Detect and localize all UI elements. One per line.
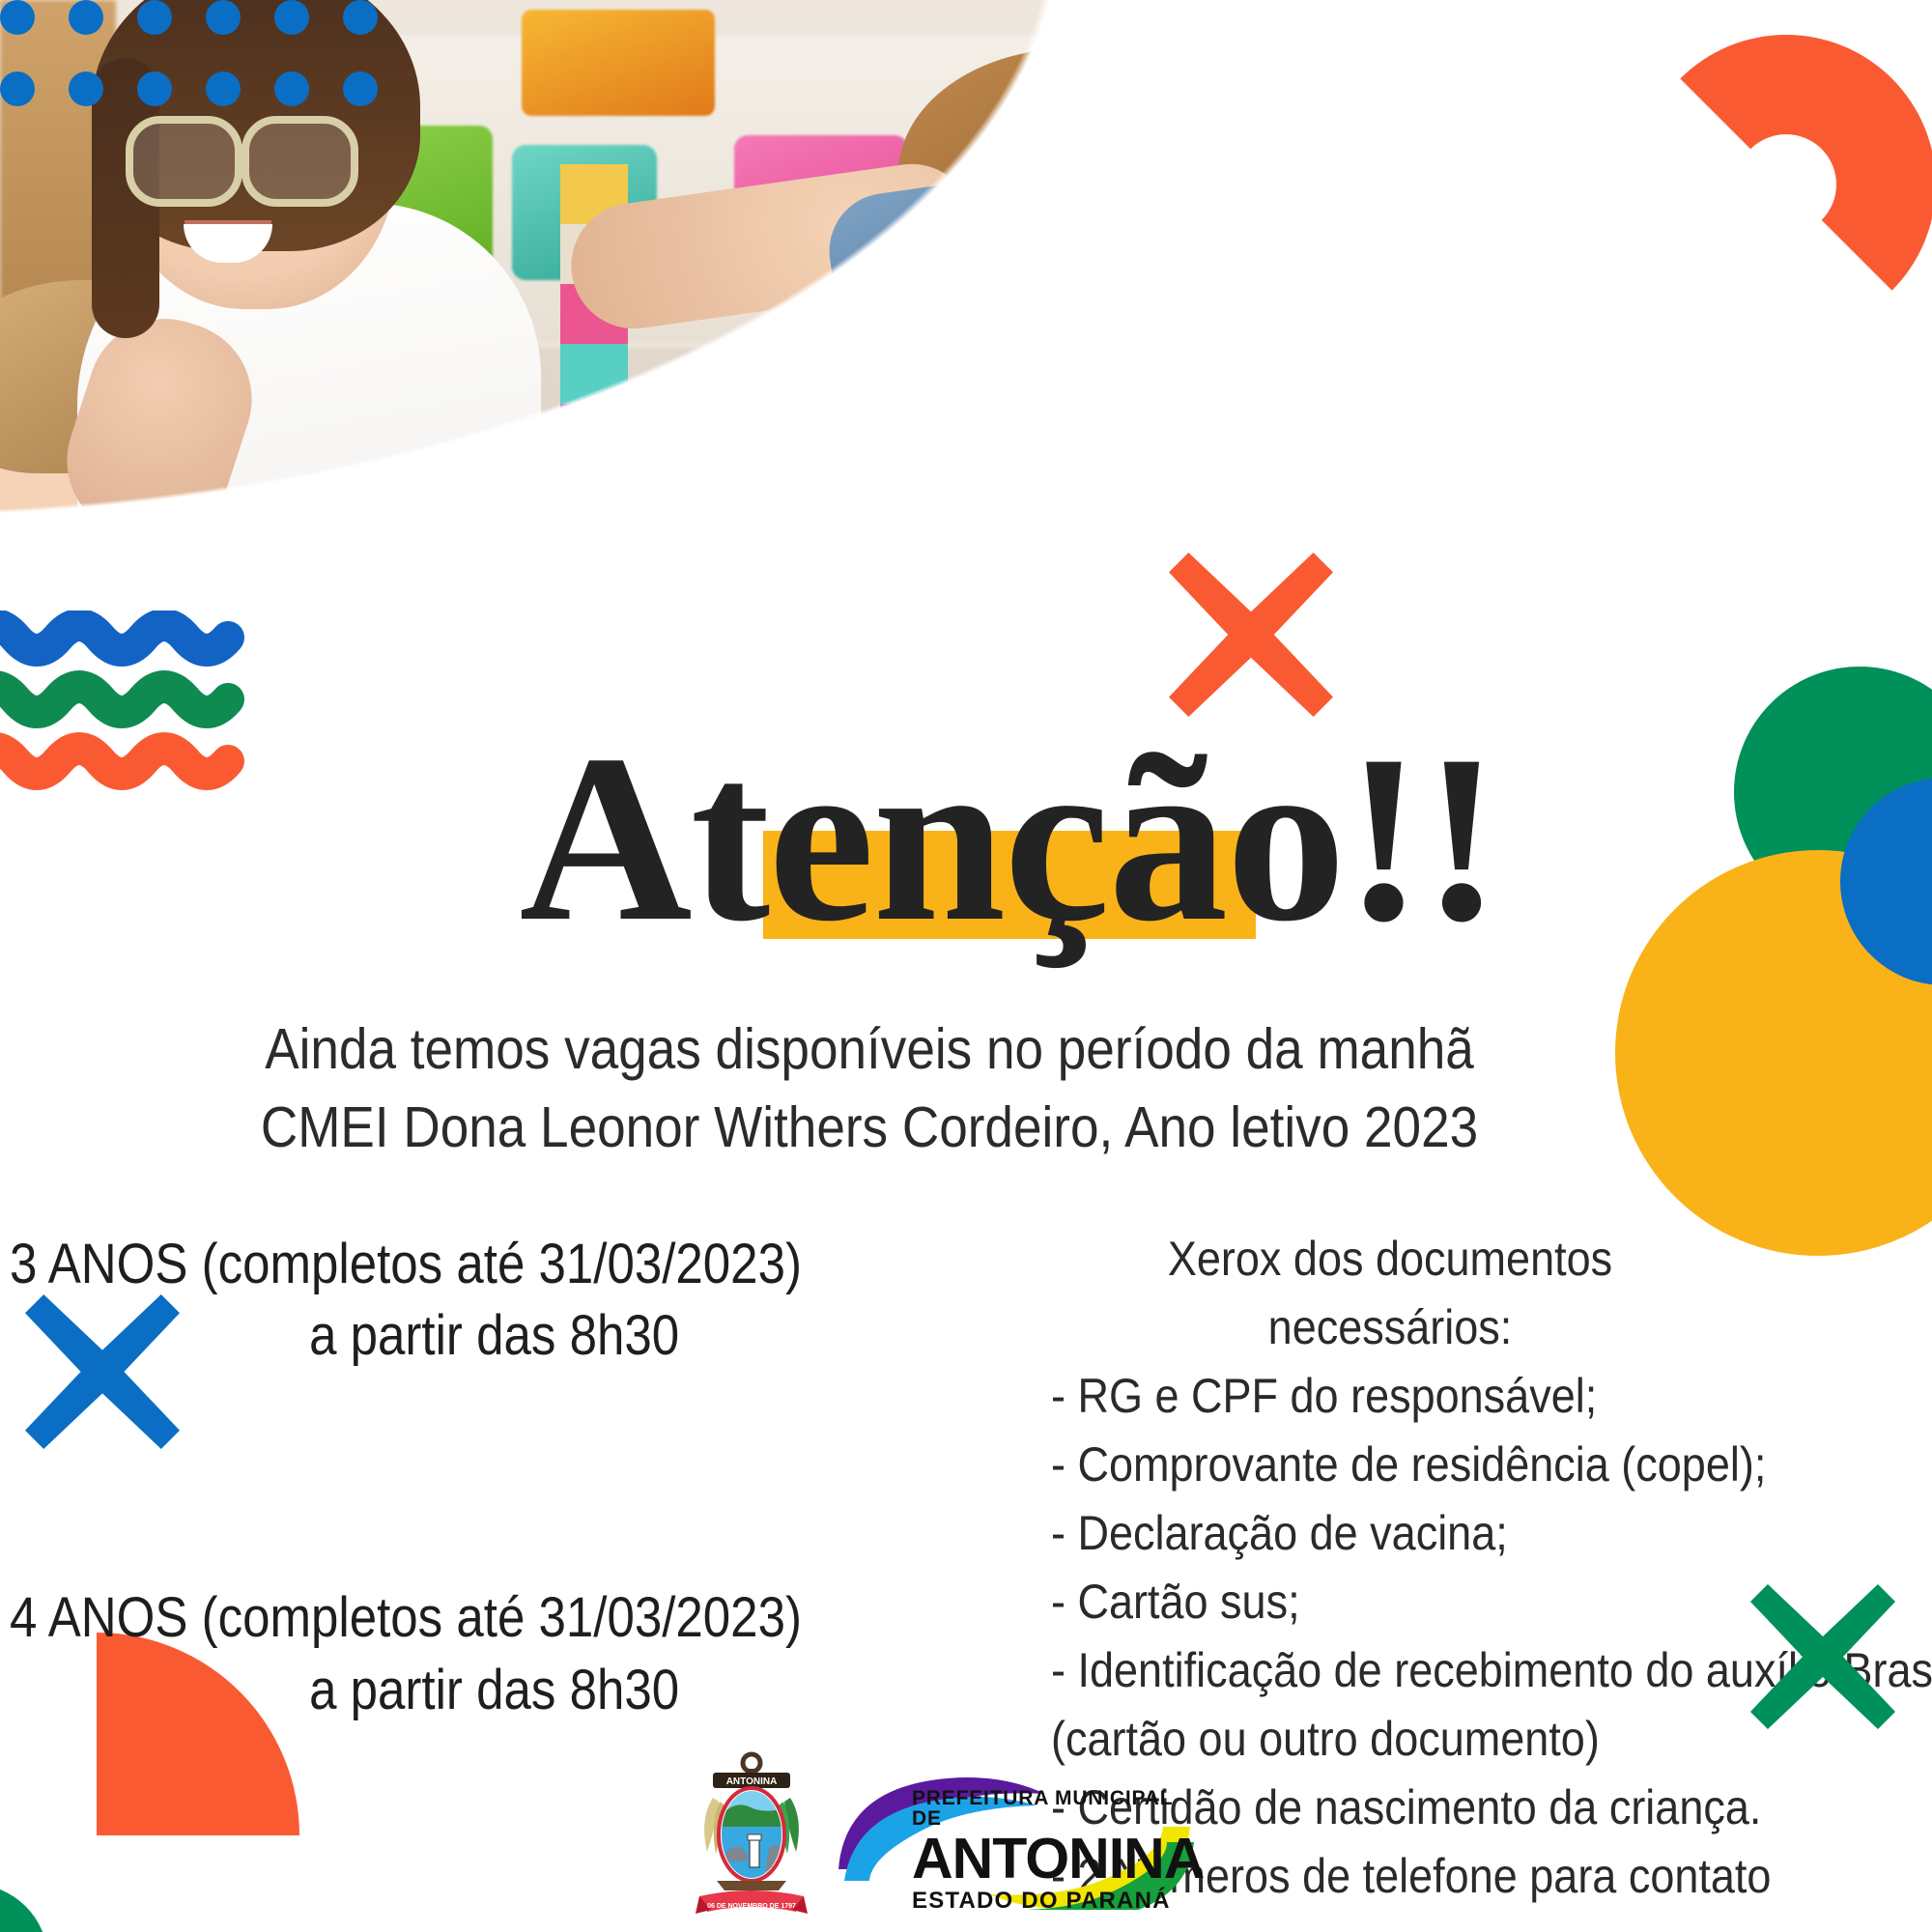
document-item: - Declaração de vacina; (1051, 1499, 1833, 1568)
prefeitura-line-2: ANTONINA (912, 1831, 1202, 1888)
logo-row: ANTONINA (688, 1750, 1209, 1924)
x-mark-icon-blue (25, 1294, 180, 1449)
age-group-4-anos: 4 ANOS (completos até 31/03/2023) a part… (10, 1582, 868, 1725)
subtitle: Ainda temos vagas disponíveis no período… (191, 1010, 1548, 1168)
crest-name: ANTONINA (726, 1776, 778, 1787)
age-group-4-anos-line2: a partir das 8h30 (10, 1655, 868, 1726)
document-item: - Comprovante de residência (copel); (1051, 1431, 1833, 1499)
page-title: Atenção!! (0, 719, 1932, 958)
document-item: - RG e CPF do responsável; (1051, 1362, 1833, 1431)
quarter-arc-icon-top-right (1636, 35, 1932, 334)
crest-motto: 06 DE NOVEMBRO DE 1797 (707, 1903, 796, 1910)
x-mark-icon-green (1750, 1584, 1895, 1729)
documents-heading: Xerox dos documentos necessários: (1051, 1225, 1833, 1362)
age-group-4-anos-line1: 4 ANOS (completos até 31/03/2023) (10, 1582, 868, 1654)
subtitle-line-2: CMEI Dona Leonor Withers Cordeiro, Ano l… (191, 1089, 1548, 1167)
prefeitura-logo: PREFEITURA MUNICIPAL DE ANTONINA ESTADO … (831, 1765, 1198, 1910)
prefeitura-line-1: PREFEITURA MUNICIPAL DE (912, 1788, 1202, 1829)
subtitle-line-1: Ainda temos vagas disponíveis no período… (191, 1010, 1548, 1089)
prefeitura-line-3: ESTADO DO PARANÁ (912, 1889, 1202, 1913)
document-item: - Cartão sus; (1051, 1568, 1833, 1636)
age-group-3-anos-line1: 3 ANOS (completos até 31/03/2023) (10, 1229, 868, 1300)
document-item: - Identificação de recebimento do auxíli… (1051, 1636, 1833, 1705)
poster-root: Atenção!! Ainda temos vagas disponíveis … (0, 0, 1932, 1932)
coat-of-arms-icon: ANTONINA (688, 1751, 815, 1923)
x-mark-icon-orange (1169, 553, 1333, 717)
